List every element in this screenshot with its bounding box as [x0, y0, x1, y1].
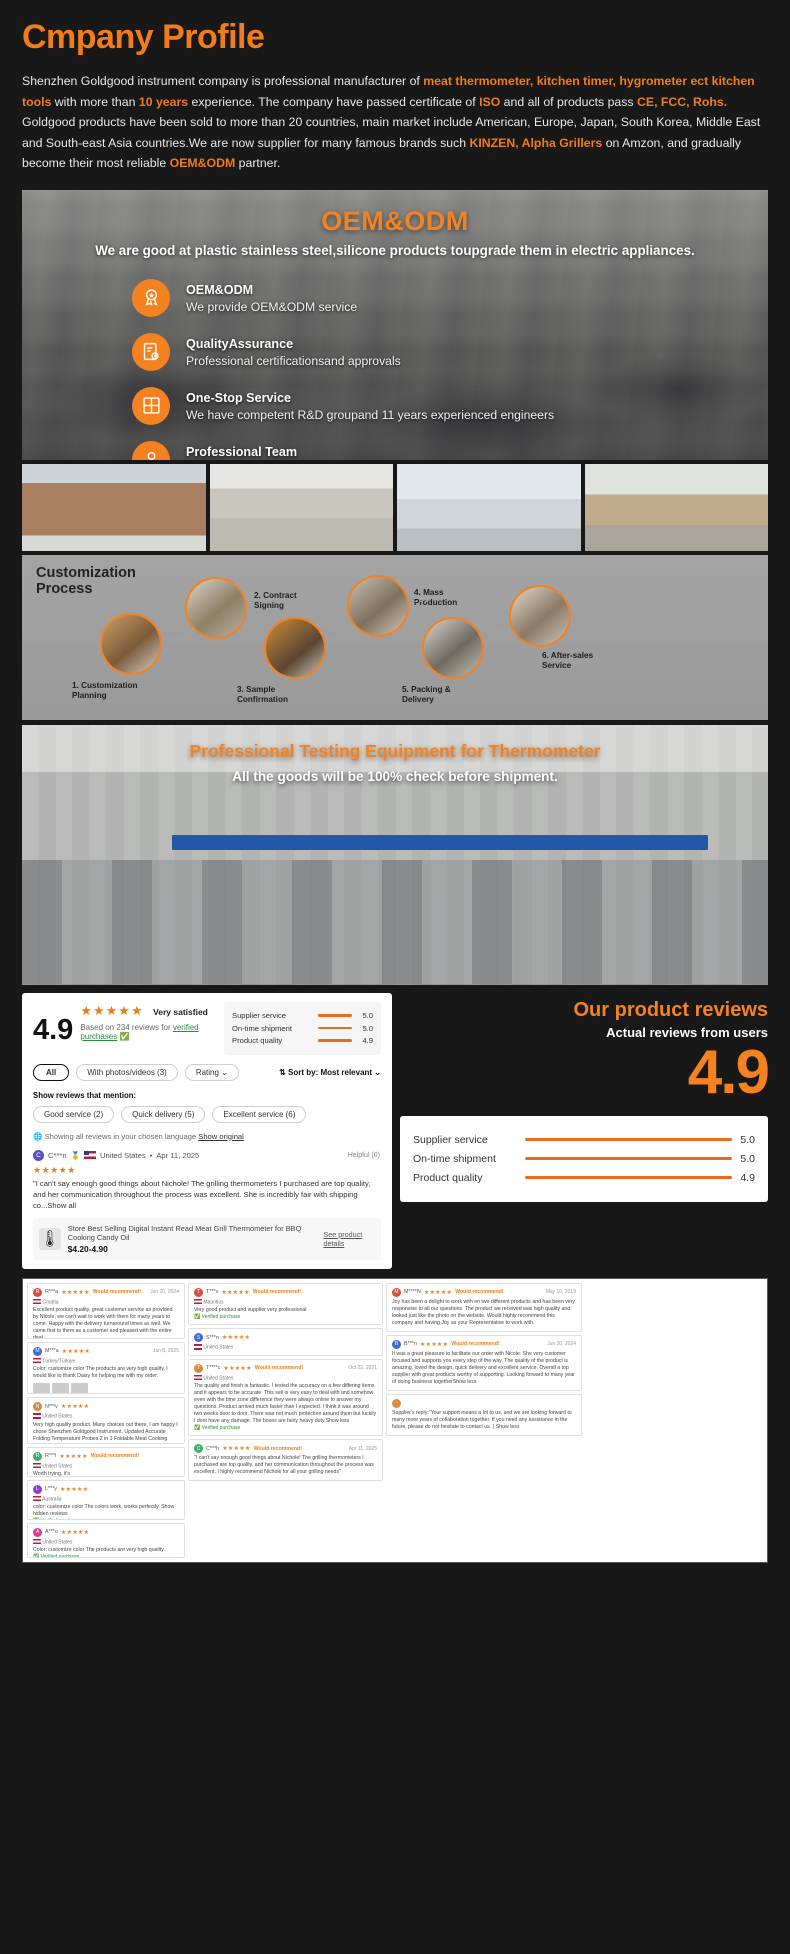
collage-review-head: · — [392, 1399, 576, 1408]
collage-author: L***y — [45, 1486, 57, 1492]
collage-stars: ★★★★★ — [424, 1289, 452, 1296]
metric-label: Product quality — [413, 1172, 525, 1184]
intro-fragment-5: ISO — [479, 95, 500, 109]
metric-bar — [525, 1138, 732, 1142]
collage-author: M***a — [45, 1348, 59, 1354]
factory-photo-gallery — [22, 464, 768, 551]
collage-column-2: TT***v★★★★★Would recommend! MauritiusVer… — [188, 1283, 383, 1558]
avatar: R — [33, 1288, 42, 1297]
overall-score: 4.9 — [33, 1015, 73, 1045]
intro-fragment-4: experience. The company have passed cert… — [188, 95, 479, 109]
intro-fragment-3: 10 years — [139, 95, 188, 109]
collage-body: Supplier's reply:"Your support means a l… — [392, 1410, 576, 1431]
collage-column-1: RR***a★★★★★Would recommend!Jun 20, 2024 … — [27, 1283, 185, 1558]
metric-row-3: Product quality4.9 — [232, 1036, 373, 1045]
oem-banner-section: OEM&ODM We are good at plastic stainless… — [0, 190, 790, 1563]
collage-review-head: CC***h★★★★★Would recommend!Apr 11, 2025 — [194, 1444, 377, 1453]
factory-building-photo — [22, 464, 206, 551]
metric-row-1: Supplier service5.0 — [232, 1011, 373, 1020]
collage-review-box: BB***n★★★★★Would recommend!Jun 20, 2024I… — [386, 1335, 582, 1391]
see-product-details-link[interactable]: See product details — [324, 1230, 376, 1248]
collage-review-head: RR***a★★★★★Would recommend!Jun 20, 2024 — [33, 1288, 179, 1297]
testing-equipment-section: Professional Testing Equipment for Therm… — [22, 725, 768, 985]
process-step-label-5: 5. Packing & Delivery — [402, 685, 451, 705]
collage-recommend-label: Would recommend! — [255, 1365, 303, 1371]
collage-author: B***n — [404, 1341, 417, 1347]
collage-stars: ★★★★★ — [59, 1453, 87, 1460]
metric-row-3: Product quality4.9 — [413, 1172, 755, 1184]
process-connector-5 — [486, 625, 508, 626]
us-flag-icon — [84, 1151, 96, 1159]
collage-date: Jun 20, 2024 — [150, 1289, 179, 1295]
collage-recommend-label: Would recommend! — [451, 1341, 499, 1347]
review-author: C***n — [48, 1151, 67, 1160]
collage-body: The quality and finish is fantastic. I t… — [194, 1383, 377, 1425]
oem-feature-title: QualityAssurance — [186, 337, 293, 351]
avatar: T — [194, 1364, 203, 1373]
intro-fragment-0: Shenzhen Goldgood instrument company is … — [22, 74, 423, 88]
mention-title: Show reviews that mention: — [33, 1091, 381, 1100]
language-note-text: Showing all reviews in your chosen langu… — [45, 1132, 197, 1141]
collage-stars: ★★★★★ — [62, 1348, 90, 1355]
collage-author: T****c — [206, 1365, 220, 1371]
collage-country: United States — [194, 1375, 377, 1382]
process-connector-4 — [410, 601, 428, 602]
process-step-label-1: 1. Customization Planning — [72, 681, 138, 701]
metric-label: On-time shipment — [232, 1024, 318, 1033]
oem-feature-list: OEM&ODMWe provide OEM&ODM serviceQuality… — [22, 274, 768, 460]
collage-review-box: AA***o★★★★★ United StatesColor: customiz… — [27, 1523, 185, 1558]
collage-review-head: TT****c★★★★★Would recommend!Oct 22, 2021 — [194, 1364, 377, 1373]
intro-fragment-9: KINZEN, Alpha Grillers — [469, 136, 602, 150]
metric-label: On-time shipment — [413, 1153, 525, 1165]
customization-process-section: Customization Process 1. Customization P… — [22, 555, 768, 720]
collage-review-box: TT***v★★★★★Would recommend! MauritiusVer… — [188, 1283, 383, 1326]
reviews-headline: Our product reviews — [400, 999, 768, 1022]
metric-value: 5.0 — [740, 1153, 755, 1165]
metrics-panel: Supplier service5.0On-time shipment5.0Pr… — [224, 1002, 381, 1055]
collage-review-box: ·Supplier's reply:"Your support means a … — [386, 1394, 582, 1436]
collage-review-box: NN***v★★★★★ United StatesVery high quali… — [27, 1397, 185, 1443]
oem-subtitle: We are good at plastic stainless steel,s… — [22, 243, 768, 258]
collage-country: United States — [194, 1344, 377, 1351]
verified-badge: ✅ Verified purchase — [33, 1518, 179, 1520]
testing-subtitle: All the goods will be 100% check before … — [22, 769, 768, 784]
collage-country: Croatia — [33, 1299, 179, 1306]
reviewed-product-row[interactable]: 🌡 Store Best Selling Digital Instant Rea… — [33, 1218, 381, 1260]
product-price: $4.20-4.90 — [68, 1244, 317, 1254]
collage-stars: ★★★★★ — [60, 1486, 88, 1493]
oem-feature-2: QualityAssuranceProfessional certificati… — [132, 328, 768, 376]
avatar: · — [392, 1399, 401, 1408]
testing-title: Professional Testing Equipment for Therm… — [22, 725, 768, 762]
oem-feature-title: Professional Team — [186, 445, 297, 459]
collage-recommend-label: Would recommend! — [254, 1446, 302, 1452]
intro-fragment-11: OEM&ODM — [170, 156, 236, 170]
grid-icon — [132, 387, 170, 425]
collage-column-3: MM****N★★★★★Would recommend!May 10, 2019… — [386, 1283, 582, 1558]
oem-feature-4: Professional TeamProfessional team to pr… — [132, 436, 768, 460]
metric-bar — [318, 1039, 352, 1042]
metric-label: Product quality — [232, 1036, 318, 1045]
collage-date: Apr 11, 2025 — [349, 1446, 377, 1452]
collage-body: Color: customize color The products are … — [33, 1366, 179, 1380]
user-icon — [132, 441, 170, 460]
process-step-image-4 — [347, 575, 409, 637]
collage-author: S***n — [206, 1335, 219, 1341]
oem-banner-heading: OEM&ODM We are good at plastic stainless… — [22, 190, 768, 258]
collage-review-head: BB***n★★★★★Would recommend!Jun 20, 2024 — [392, 1340, 576, 1349]
office-corridor-photo — [397, 464, 581, 551]
collage-review-box: MM***a★★★★★Jan 8, 2025 Turkey/TürkiyeCol… — [27, 1342, 185, 1395]
filter-chip-1[interactable]: All — [33, 1064, 69, 1081]
right-metrics-card: Supplier service5.0On-time shipment5.0Pr… — [400, 1116, 768, 1202]
avatar: L — [33, 1485, 42, 1494]
oem-feature-1: OEM&ODMWe provide OEM&ODM service — [132, 274, 768, 322]
metric-value: 5.0 — [740, 1134, 755, 1146]
oem-feature-desc: Professional certificationsand approvals — [186, 354, 401, 368]
review-card-top: 4.9 ★★★★★ Very satisfied Based on 234 re… — [33, 1002, 381, 1055]
medal-icon — [132, 279, 170, 317]
reviews-collage: RR***a★★★★★Would recommend!Jun 20, 2024 … — [22, 1278, 768, 1563]
process-step-image-5 — [422, 617, 484, 679]
review-summary-card: 4.9 ★★★★★ Very satisfied Based on 234 re… — [22, 993, 392, 1269]
review-filter-chips: AllWith photos/videos (3)Rating ⌄⇅ Sort … — [33, 1064, 381, 1081]
company-profile-page: Cmpany Profile Shenzhen Goldgood instrum… — [0, 0, 790, 190]
collage-review-box: SS***n★★★★★ United States — [188, 1328, 383, 1356]
oem-feature-3: One-Stop ServiceWe have competent R&D gr… — [132, 382, 768, 430]
product-thumbnail: 🌡 — [39, 1228, 61, 1250]
oem-feature-desc: We have competent R&D groupand 11 years … — [186, 408, 554, 422]
metric-bar — [525, 1176, 732, 1180]
intro-fragment-6: and all of products pass — [500, 95, 637, 109]
certificate-icon — [132, 333, 170, 371]
collage-country: Mauritius — [194, 1299, 377, 1306]
process-step-label-6: 6. After-sales Service — [542, 651, 593, 671]
review-text: "I can't say enough good things about Ni… — [33, 1178, 381, 1211]
collage-review-head: MM***a★★★★★Jan 8, 2025 — [33, 1347, 179, 1356]
mention-chips: Good service (2)Quick delivery (5)Excell… — [33, 1106, 381, 1123]
collage-country: United States — [33, 1463, 179, 1470]
production-line-photo — [210, 464, 394, 551]
collage-body: Worth trying, it's — [33, 1471, 179, 1477]
review-author-row: C C***n 🏅 United States • Apr 11, 2025 H… — [33, 1150, 381, 1161]
avatar: C — [33, 1150, 44, 1161]
collage-body: Joy has been a delight to work with on t… — [392, 1299, 576, 1327]
show-original-link[interactable]: Show original — [198, 1132, 244, 1141]
collage-date: Oct 22, 2021 — [348, 1365, 377, 1371]
collage-author: A***o — [45, 1529, 58, 1535]
avatar: T — [194, 1288, 203, 1297]
metric-bar — [318, 1014, 352, 1017]
collage-review-head: TT***v★★★★★Would recommend! — [194, 1288, 377, 1297]
page-title: Cmpany Profile — [22, 0, 768, 71]
filter-chip-2[interactable]: With photos/videos (3) — [76, 1064, 178, 1081]
verified-badge: ✅ Verified purchase — [194, 1425, 377, 1431]
collage-stars: ★★★★★ — [61, 1403, 89, 1410]
avatar: C — [194, 1444, 203, 1453]
mention-chip-2[interactable]: Quick delivery (5) — [121, 1106, 205, 1123]
collage-body: Very good product and supplier very prof… — [194, 1307, 377, 1314]
review-sep: • — [150, 1151, 153, 1160]
collage-recommend-label: Would recommend! — [455, 1289, 503, 1295]
collage-recommend-label: Would recommend! — [91, 1453, 139, 1459]
review-count-line: Based on 234 reviews for verified purcha… — [80, 1023, 214, 1041]
avatar: M — [33, 1347, 42, 1356]
collage-review-box: CC***h★★★★★Would recommend!Apr 11, 2025"… — [188, 1439, 383, 1481]
collage-stars: ★★★★★ — [222, 1334, 250, 1341]
oem-title: OEM&ODM — [22, 206, 768, 237]
collage-stars: ★★★★★ — [61, 1529, 89, 1536]
metric-row-1: Supplier service5.0 — [413, 1134, 755, 1146]
collage-date: May 10, 2019 — [546, 1289, 576, 1295]
collage-stars: ★★★★★ — [221, 1289, 249, 1296]
collage-recommend-label: Would recommend! — [93, 1289, 141, 1295]
metric-value: 4.9 — [357, 1036, 373, 1045]
collage-author: N***v — [45, 1404, 58, 1410]
process-step-image-2 — [185, 577, 247, 639]
product-name: Store Best Selling Digital Instant Read … — [68, 1224, 317, 1242]
badge-icon: 🏅 — [71, 1151, 80, 1160]
process-connector-1 — [164, 633, 186, 634]
review-country: United States — [100, 1151, 146, 1160]
collage-stars: ★★★★★ — [420, 1341, 448, 1348]
collage-author: M****N — [404, 1289, 421, 1295]
process-connector-2 — [250, 601, 270, 602]
avatar: B — [392, 1340, 401, 1349]
oem-feature-title: OEM&ODM — [186, 283, 253, 297]
oem-feature-title: One-Stop Service — [186, 391, 291, 405]
process-title: Customization Process — [36, 565, 136, 597]
collage-review-box: RR***a★★★★★Would recommend!Jun 20, 2024 … — [27, 1283, 185, 1339]
metric-row-2: On-time shipment5.0 — [413, 1153, 755, 1165]
review-date: Apr 11, 2025 — [156, 1151, 199, 1160]
reviews-right-panel: Our product reviews Actual reviews from … — [400, 993, 768, 1269]
company-intro-paragraph: Shenzhen Goldgood instrument company is … — [22, 71, 768, 190]
collage-body: It was a great pleasure to facilitate ou… — [392, 1351, 576, 1386]
collage-stars: ★★★★★ — [61, 1289, 89, 1296]
helpful-button[interactable]: Helpful (0) — [348, 1152, 380, 1159]
process-step-image-6 — [509, 585, 571, 647]
metric-bar — [525, 1157, 732, 1161]
intro-fragment-7: CE, FCC, Rohs. — [637, 95, 727, 109]
verified-badge: ✅ Verified purchase — [194, 1314, 377, 1320]
satisfaction-label: Very satisfied — [153, 1007, 208, 1017]
metric-value: 5.0 — [357, 1011, 373, 1020]
avatar: S — [194, 1333, 203, 1342]
metric-row-2: On-time shipment5.0 — [232, 1024, 373, 1033]
language-note: 🌐 Showing all reviews in your chosen lan… — [33, 1132, 381, 1141]
intro-fragment-2: with more than — [51, 95, 138, 109]
collage-author: R***a — [45, 1289, 58, 1295]
collage-review-head: NN***v★★★★★ — [33, 1402, 179, 1411]
reception-area-photo — [585, 464, 769, 551]
reviews-section: 4.9 ★★★★★ Very satisfied Based on 234 re… — [22, 993, 768, 1269]
review-stars: ★★★★★ — [33, 1165, 381, 1176]
big-score: 4.9 — [400, 1042, 768, 1104]
collage-stars: ★★★★★ — [223, 1365, 251, 1372]
lab-banner-strip — [172, 835, 708, 850]
review-score-block: 4.9 ★★★★★ Very satisfied Based on 234 re… — [33, 1002, 214, 1055]
collage-country: United States — [33, 1539, 179, 1546]
process-connector-3 — [328, 633, 348, 634]
process-step-image-3 — [264, 617, 326, 679]
metric-value: 5.0 — [357, 1024, 373, 1033]
mention-chip-1[interactable]: Good service (2) — [33, 1106, 114, 1123]
collage-thumbnails — [33, 1383, 179, 1394]
overall-stars: ★★★★★ — [80, 1003, 143, 1018]
intro-fragment-12: partner. — [235, 156, 280, 170]
process-step-label-3: 3. Sample Confirmation — [237, 685, 288, 705]
collage-date: Jan 8, 2025 — [153, 1348, 179, 1354]
collage-review-head: SS***n★★★★★ — [194, 1333, 377, 1342]
collage-review-box: LL***y★★★★★ Australiacolor: customize co… — [27, 1480, 185, 1520]
process-title-line1: Customization — [36, 565, 136, 581]
collage-body: color: customize color The colors work, … — [33, 1504, 179, 1518]
collage-recommend-label: Would recommend! — [253, 1289, 301, 1295]
metric-bar — [318, 1027, 352, 1030]
collage-stars: ★★★★★ — [222, 1445, 250, 1452]
collage-date: Jun 20, 2024 — [547, 1341, 576, 1347]
collage-author: T***v — [206, 1289, 218, 1295]
filter-chip-3[interactable]: Rating ⌄ — [185, 1064, 239, 1081]
oem-feature-desc: We provide OEM&ODM service — [186, 300, 357, 314]
collage-review-head: MM****N★★★★★Would recommend!May 10, 2019 — [392, 1288, 576, 1297]
review-count-prefix: Based on 234 reviews for — [80, 1023, 173, 1032]
process-title-line2: Process — [36, 581, 92, 597]
process-step-label-4: 4. Mass Production — [414, 588, 457, 608]
collage-review-box: RR***i★★★★★Would recommend! United State… — [27, 1447, 185, 1477]
verified-badge: ✅ Verified purchase — [33, 1554, 179, 1557]
collage-country: Turkey/Türkiye — [33, 1358, 179, 1365]
collage-country: United States — [33, 1413, 179, 1420]
collage-review-box: MM****N★★★★★Would recommend!May 10, 2019… — [386, 1283, 582, 1332]
metric-value: 4.9 — [740, 1172, 755, 1184]
sort-by-dropdown[interactable]: ⇅ Sort by: Most relevant ⌄ — [279, 1068, 381, 1077]
collage-body: "I can't say enough good things about Ni… — [194, 1455, 377, 1476]
process-step-image-1 — [100, 613, 162, 675]
avatar: N — [33, 1402, 42, 1411]
collage-review-head: AA***o★★★★★ — [33, 1528, 179, 1537]
collage-review-head: LL***y★★★★★ — [33, 1485, 179, 1494]
mention-chip-3[interactable]: Excellent service (6) — [212, 1106, 306, 1123]
collage-review-head: RR***i★★★★★Would recommend! — [33, 1452, 179, 1461]
collage-body: Very high quality product. Many choices … — [33, 1422, 179, 1444]
metric-label: Supplier service — [413, 1134, 525, 1146]
collage-author: R***i — [45, 1453, 56, 1459]
avatar: R — [33, 1452, 42, 1461]
metric-label: Supplier service — [232, 1011, 318, 1020]
collage-author: C***h — [206, 1446, 219, 1452]
collage-country: Australia — [33, 1496, 179, 1503]
oem-banner: OEM&ODM We are good at plastic stainless… — [22, 190, 768, 460]
avatar: A — [33, 1528, 42, 1537]
avatar: M — [392, 1288, 401, 1297]
collage-review-box: TT****c★★★★★Would recommend!Oct 22, 2021… — [188, 1359, 383, 1437]
collage-body: Excellent product quality, great custome… — [33, 1307, 179, 1339]
